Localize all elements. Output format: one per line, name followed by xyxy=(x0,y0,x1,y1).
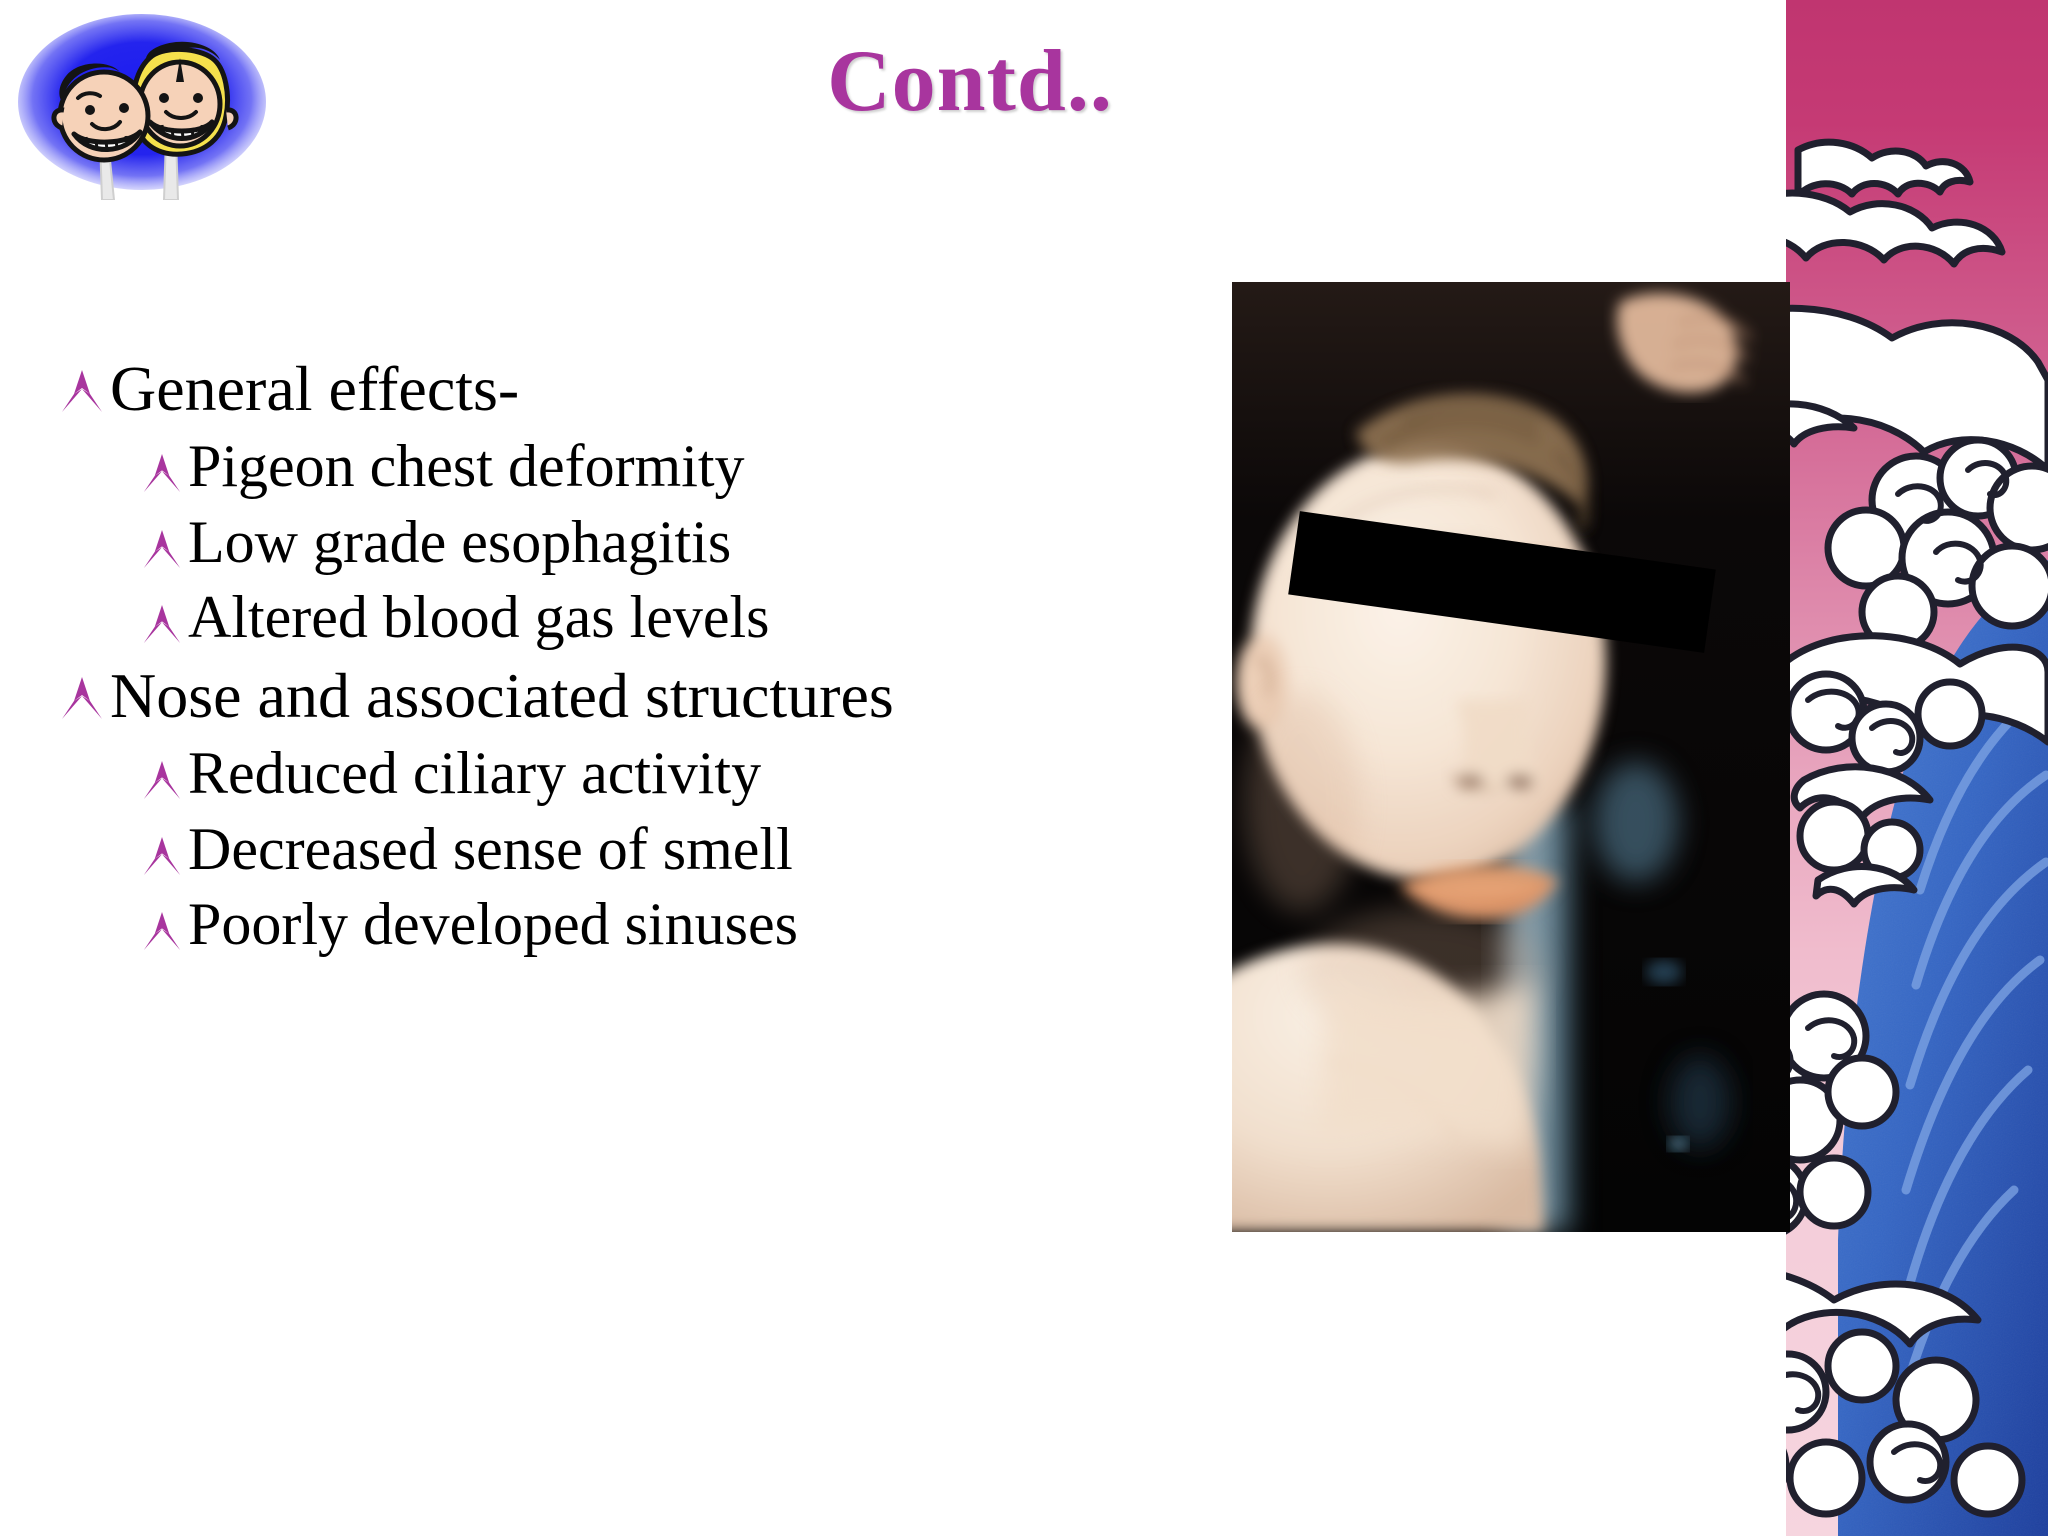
boomerang-bullet-icon xyxy=(142,452,182,496)
slide-title: Contd.. xyxy=(380,34,1560,131)
list-item: Reduced ciliary activity xyxy=(60,739,1220,809)
boomerang-bullet-icon xyxy=(60,675,104,723)
list-item-label: General effects- xyxy=(110,352,519,426)
boomerang-bullet-icon xyxy=(60,368,104,416)
list-item-label: Nose and associated structures xyxy=(110,659,894,733)
list-item-label: Low grade esophagitis xyxy=(188,508,731,578)
list-item-label: Pigeon chest deformity xyxy=(188,432,745,502)
list-item: Altered blood gas levels xyxy=(60,583,1220,653)
great-wave-icon xyxy=(1786,0,2048,1536)
clinical-photo xyxy=(1232,282,1790,1232)
boomerang-bullet-icon xyxy=(142,603,182,647)
list-item: Poorly developed sinuses xyxy=(60,890,1220,960)
list-item: Pigeon chest deformity xyxy=(60,432,1220,502)
child-face-photo-icon xyxy=(1232,282,1790,1232)
slide-canvas: Contd.. General effects- Pigeon chest de… xyxy=(0,0,2048,1536)
list-item: Decreased sense of smell xyxy=(60,815,1220,885)
boomerang-bullet-icon xyxy=(142,528,182,572)
boomerang-bullet-icon xyxy=(142,759,182,803)
list-item: Low grade esophagitis xyxy=(60,508,1220,578)
list-item-label: Decreased sense of smell xyxy=(188,815,793,885)
two-smiling-cartoon-faces-icon xyxy=(16,10,268,200)
cartoon-faces-logo xyxy=(16,10,268,200)
list-item-label: Altered blood gas levels xyxy=(188,583,770,653)
list-item: Nose and associated structures xyxy=(60,659,1220,733)
list-item-label: Poorly developed sinuses xyxy=(188,890,798,960)
great-wave-decoration-band xyxy=(1786,0,2048,1536)
list-item: General effects- xyxy=(60,352,1220,426)
list-item-label: Reduced ciliary activity xyxy=(188,739,761,809)
boomerang-bullet-icon xyxy=(142,910,182,954)
bullet-list: General effects- Pigeon chest deformity … xyxy=(60,352,1220,966)
boomerang-bullet-icon xyxy=(142,835,182,879)
